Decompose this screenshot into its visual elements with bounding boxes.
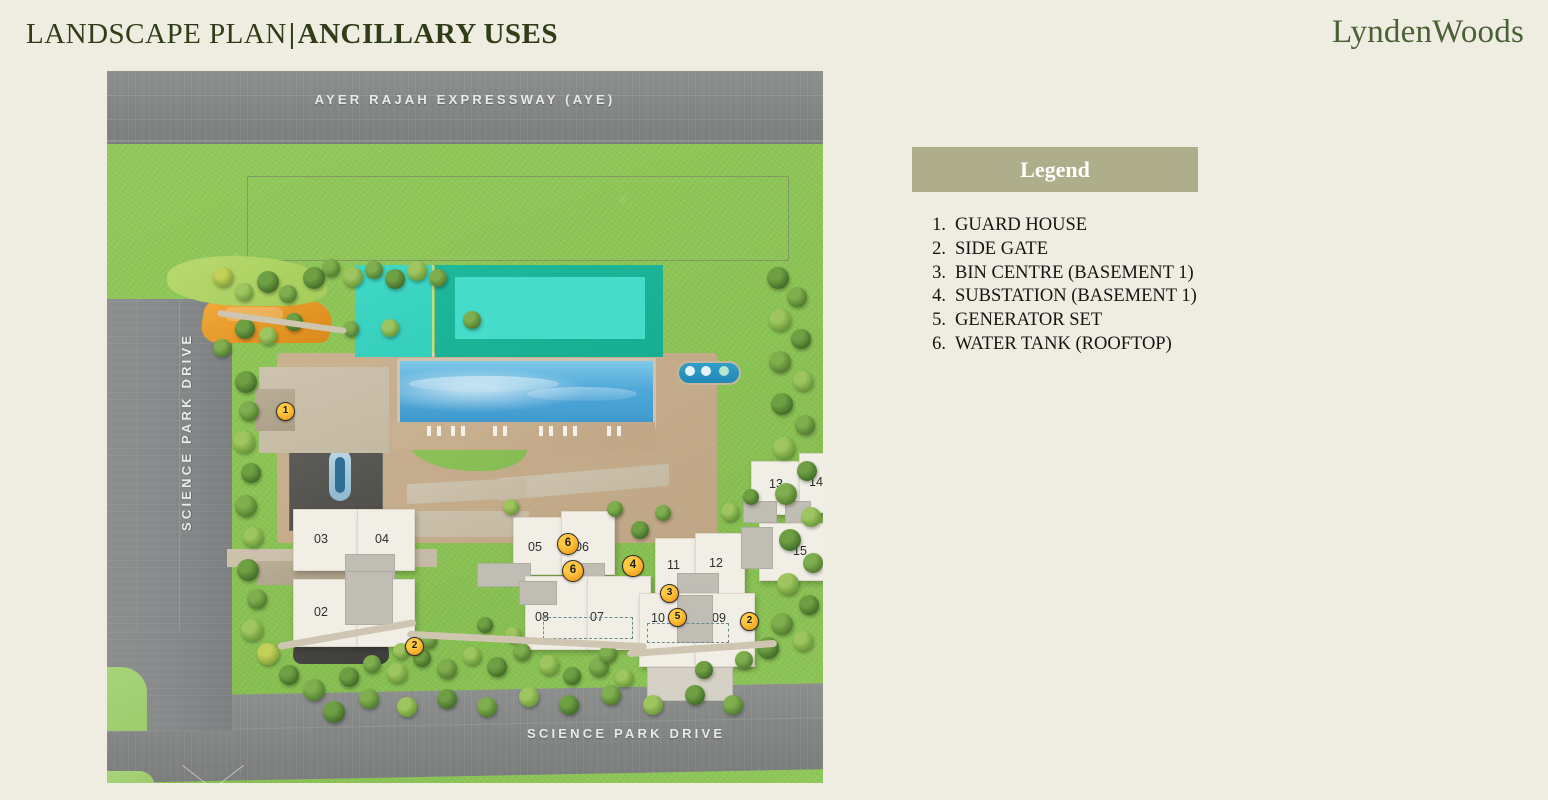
building-04-number: 04 — [375, 532, 389, 546]
tree — [769, 351, 791, 373]
tree — [343, 267, 363, 287]
building-02-number: 02 — [314, 605, 328, 619]
road-left-label-wrap: SCIENCE PARK DRIVE — [117, 191, 137, 371]
arrival-drop-off-inner — [335, 457, 345, 493]
marker-2-side-gate-east[interactable]: 2 — [740, 612, 759, 631]
tree — [303, 679, 325, 701]
legend-item-2: 2. SIDE GATE — [912, 238, 1198, 262]
tree — [771, 393, 793, 415]
tree — [385, 269, 405, 289]
tree — [247, 589, 267, 609]
tree — [793, 371, 813, 391]
tree — [643, 695, 663, 715]
tree — [387, 663, 407, 683]
tree — [723, 695, 743, 715]
expressway-label: AYER RAJAH EXPRESSWAY (AYE) — [107, 92, 823, 107]
site-boundary-outline — [247, 176, 789, 261]
legend-item-label: SUBSTATION (BASEMENT 1) — [955, 285, 1197, 309]
tree — [463, 647, 481, 665]
tree — [397, 697, 417, 717]
tree — [615, 669, 633, 687]
marker-6-water-tank-west[interactable]: 6 — [557, 533, 579, 555]
expressway-top — [107, 71, 823, 144]
tree — [803, 553, 823, 573]
tree — [363, 655, 381, 673]
legend-item-number: 5. — [912, 309, 955, 333]
marker-4-substation[interactable]: 4 — [622, 555, 644, 577]
tree — [429, 269, 447, 287]
tree — [365, 261, 383, 279]
jacuzzi-jet — [685, 366, 695, 376]
tree — [631, 521, 649, 539]
tree — [559, 695, 579, 715]
tree — [381, 319, 399, 337]
tree — [791, 329, 811, 349]
expressway-edge-line — [107, 140, 823, 142]
tree — [607, 501, 623, 517]
tree — [322, 259, 340, 277]
lounger-row — [617, 426, 621, 436]
tree — [235, 319, 255, 339]
tree — [777, 573, 799, 595]
tree — [235, 283, 253, 301]
legend-item-label: SIDE GATE — [955, 238, 1048, 262]
building-05-number: 05 — [528, 540, 542, 554]
tree — [503, 499, 519, 515]
tree — [563, 667, 581, 685]
site-plan-map: AYER RAJAH EXPRESSWAY (AYE) SCIENCE PARK… — [107, 71, 823, 783]
tree — [339, 667, 359, 687]
tree — [787, 287, 807, 307]
legend-item-number: 6. — [912, 333, 955, 357]
tennis-court-large-inner — [455, 277, 645, 339]
marker-5-generator-set[interactable]: 5 — [668, 608, 687, 627]
tree — [477, 697, 497, 717]
tree — [463, 311, 481, 329]
page-title-primary: LANDSCAPE PLAN — [26, 18, 287, 50]
tree — [239, 401, 259, 421]
pedestrian-crossing-box — [182, 765, 244, 783]
tree — [769, 309, 791, 331]
jacuzzi-jet — [719, 366, 729, 376]
legend-item-3: 3. BIN CENTRE (BASEMENT 1) — [912, 262, 1198, 286]
tree — [437, 659, 457, 679]
lounger-row — [607, 426, 611, 436]
lounger-row — [493, 426, 497, 436]
tree — [767, 267, 789, 289]
legend-item-label: GUARD HOUSE — [955, 214, 1087, 238]
tree — [519, 687, 539, 707]
legend-item-number: 1. — [912, 214, 955, 238]
tree — [771, 613, 793, 635]
tree — [775, 483, 797, 505]
building-07-08-core — [519, 581, 557, 605]
tree — [237, 559, 259, 581]
building-03-number: 03 — [314, 532, 328, 546]
tree — [241, 463, 261, 483]
tree — [793, 631, 813, 651]
tree — [513, 643, 531, 661]
building-15-core — [741, 527, 773, 569]
legend-item-label: BIN CENTRE (BASEMENT 1) — [955, 262, 1194, 286]
tree — [257, 271, 279, 293]
tree — [601, 685, 621, 705]
tree — [773, 437, 795, 459]
tree — [235, 371, 257, 393]
tree — [539, 655, 559, 675]
marker-2-side-gate-west[interactable]: 2 — [405, 637, 424, 656]
brand-logo: LyndenWoods — [1332, 14, 1524, 51]
legend-item-label: WATER TANK (ROOFTOP) — [955, 333, 1172, 357]
tree — [279, 665, 299, 685]
tree — [407, 261, 427, 281]
page-title-separator: | — [287, 18, 298, 50]
tree — [779, 529, 801, 551]
legend-header: Legend — [912, 147, 1198, 192]
building-12-number: 12 — [709, 556, 723, 570]
marker-6-water-tank-east[interactable]: 6 — [562, 560, 584, 582]
tree — [233, 431, 255, 453]
tree — [695, 661, 713, 679]
lounger-row — [503, 426, 507, 436]
lounger-row — [437, 426, 441, 436]
road-bottom-label: SCIENCE PARK DRIVE — [527, 726, 807, 741]
page-title: LANDSCAPE PLAN|ANCILLARY USES — [26, 18, 558, 51]
tree — [721, 503, 739, 521]
tree — [235, 495, 257, 517]
lawn-corner-sw — [107, 667, 147, 731]
pool-deck — [393, 422, 655, 450]
lounger-row — [451, 426, 455, 436]
tree — [797, 461, 817, 481]
marker-1-guard-house[interactable]: 1 — [276, 402, 295, 421]
tree — [487, 657, 507, 677]
building-11-number: 11 — [667, 558, 680, 572]
marker-3-bin-centre[interactable]: 3 — [660, 584, 679, 603]
legend-item-number: 4. — [912, 285, 955, 309]
legend-item-4: 4. SUBSTATION (BASEMENT 1) — [912, 285, 1198, 309]
pool-wave-highlight — [527, 387, 637, 401]
legend-panel: Legend 1. GUARD HOUSE 2. SIDE GATE 3. BI… — [912, 147, 1198, 357]
page-title-secondary: ANCILLARY USES — [298, 18, 558, 50]
jacuzzi-jet — [701, 366, 711, 376]
lounger-row — [461, 426, 465, 436]
tree — [241, 619, 263, 641]
building-01-02-core — [345, 571, 393, 625]
legend-item-1: 1. GUARD HOUSE — [912, 214, 1198, 238]
tree — [359, 689, 379, 709]
lounger-row — [427, 426, 431, 436]
tree — [795, 415, 815, 435]
building-09-10-water-tank-outline — [647, 623, 729, 643]
tree — [213, 339, 231, 357]
lawn-corner-s — [107, 771, 155, 783]
tree — [685, 685, 705, 705]
legend-item-6: 6. WATER TANK (ROOFTOP) — [912, 333, 1198, 357]
tree — [259, 327, 277, 345]
tree — [743, 489, 759, 505]
tree — [655, 505, 671, 521]
tree — [279, 285, 297, 303]
expressway-lane-line — [107, 119, 823, 120]
lounger-row — [563, 426, 567, 436]
tree — [323, 701, 345, 723]
legend-item-number: 2. — [912, 238, 955, 262]
tree — [243, 527, 263, 547]
legend-item-5: 5. GENERATOR SET — [912, 309, 1198, 333]
lounger-row — [573, 426, 577, 436]
legend-list: 1. GUARD HOUSE 2. SIDE GATE 3. BIN CENTR… — [912, 214, 1198, 357]
lounger-row — [539, 426, 543, 436]
building-07-08-water-tank-outline — [543, 617, 633, 639]
tree — [437, 689, 457, 709]
legend-item-label: GENERATOR SET — [955, 309, 1102, 333]
tree — [477, 617, 493, 633]
lounger-row — [549, 426, 553, 436]
tree — [801, 507, 821, 527]
tree — [213, 267, 233, 287]
tree — [735, 651, 753, 669]
road-left-label: SCIENCE PARK DRIVE — [179, 333, 194, 531]
legend-item-number: 3. — [912, 262, 955, 286]
tree — [257, 643, 279, 665]
tree — [799, 595, 819, 615]
